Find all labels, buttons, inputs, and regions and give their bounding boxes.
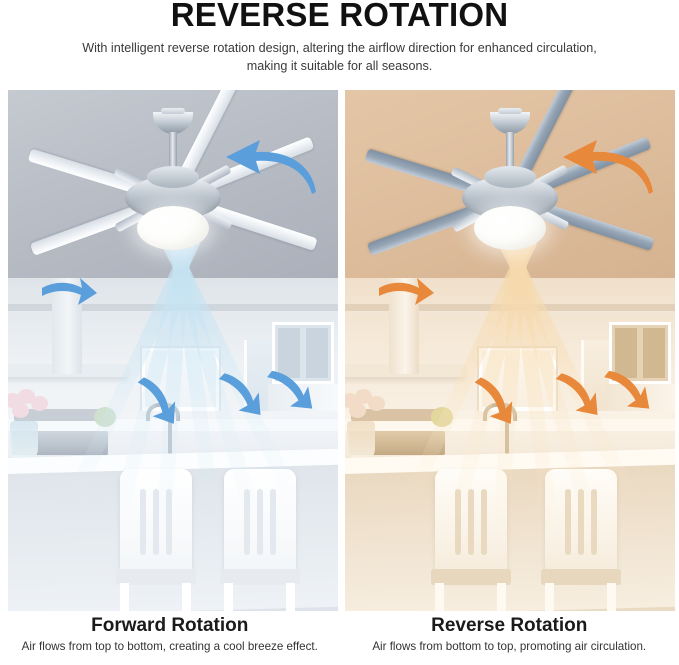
caption-reverse-rotation: Reverse Rotation Air flows from bottom t… [340,615,679,663]
cabinet-pane [306,328,328,378]
cabinet-pane [643,328,665,378]
subtitle-line-1: With intelligent reverse rotation design… [82,41,597,55]
dome-light-icon [474,206,546,250]
airflow-arrow-icon [377,274,435,316]
caption-description: Air flows from bottom to top, promoting … [340,639,679,654]
caption-forward-rotation: Forward Rotation Air flows from top to b… [0,615,340,663]
header: REVERSE ROTATION With intelligent revers… [0,0,679,75]
bar-stool [116,469,196,611]
flower-vase [347,421,375,461]
caption-title: Forward Rotation [0,615,340,637]
kitchen-area [345,411,675,611]
potted-plant [94,407,116,427]
dome-light-icon [137,206,209,250]
flowers [345,389,389,423]
caption-row: Forward Rotation Air flows from top to b… [0,615,679,663]
page-subtitle: With intelligent reverse rotation design… [50,39,630,75]
room-walls [8,278,338,611]
page-title: REVERSE ROTATION [0,0,679,32]
caption-description: Air flows from top to bottom, creating a… [0,639,340,654]
subtitle-line-2: making it suitable for all seasons. [247,59,433,73]
panel-reverse-rotation[interactable] [345,90,675,611]
fan-mount [490,112,530,134]
flowers [8,389,52,423]
bar-stool [541,469,621,611]
airflow-arrow-icon [40,274,98,316]
bar-stool [431,469,511,611]
comparison-panels [0,90,679,611]
caption-title: Reverse Rotation [340,615,679,637]
kitchen-area [8,411,338,611]
room-scene [8,90,338,611]
rotation-arrow-icon [216,136,324,198]
room-walls [345,278,675,611]
potted-plant [431,407,453,427]
room-scene [345,90,675,611]
bar-stool [220,469,300,611]
panel-forward-rotation[interactable] [8,90,338,611]
flower-vase [10,421,38,461]
fan-mount [153,112,193,134]
rotation-arrow-icon [553,136,661,198]
